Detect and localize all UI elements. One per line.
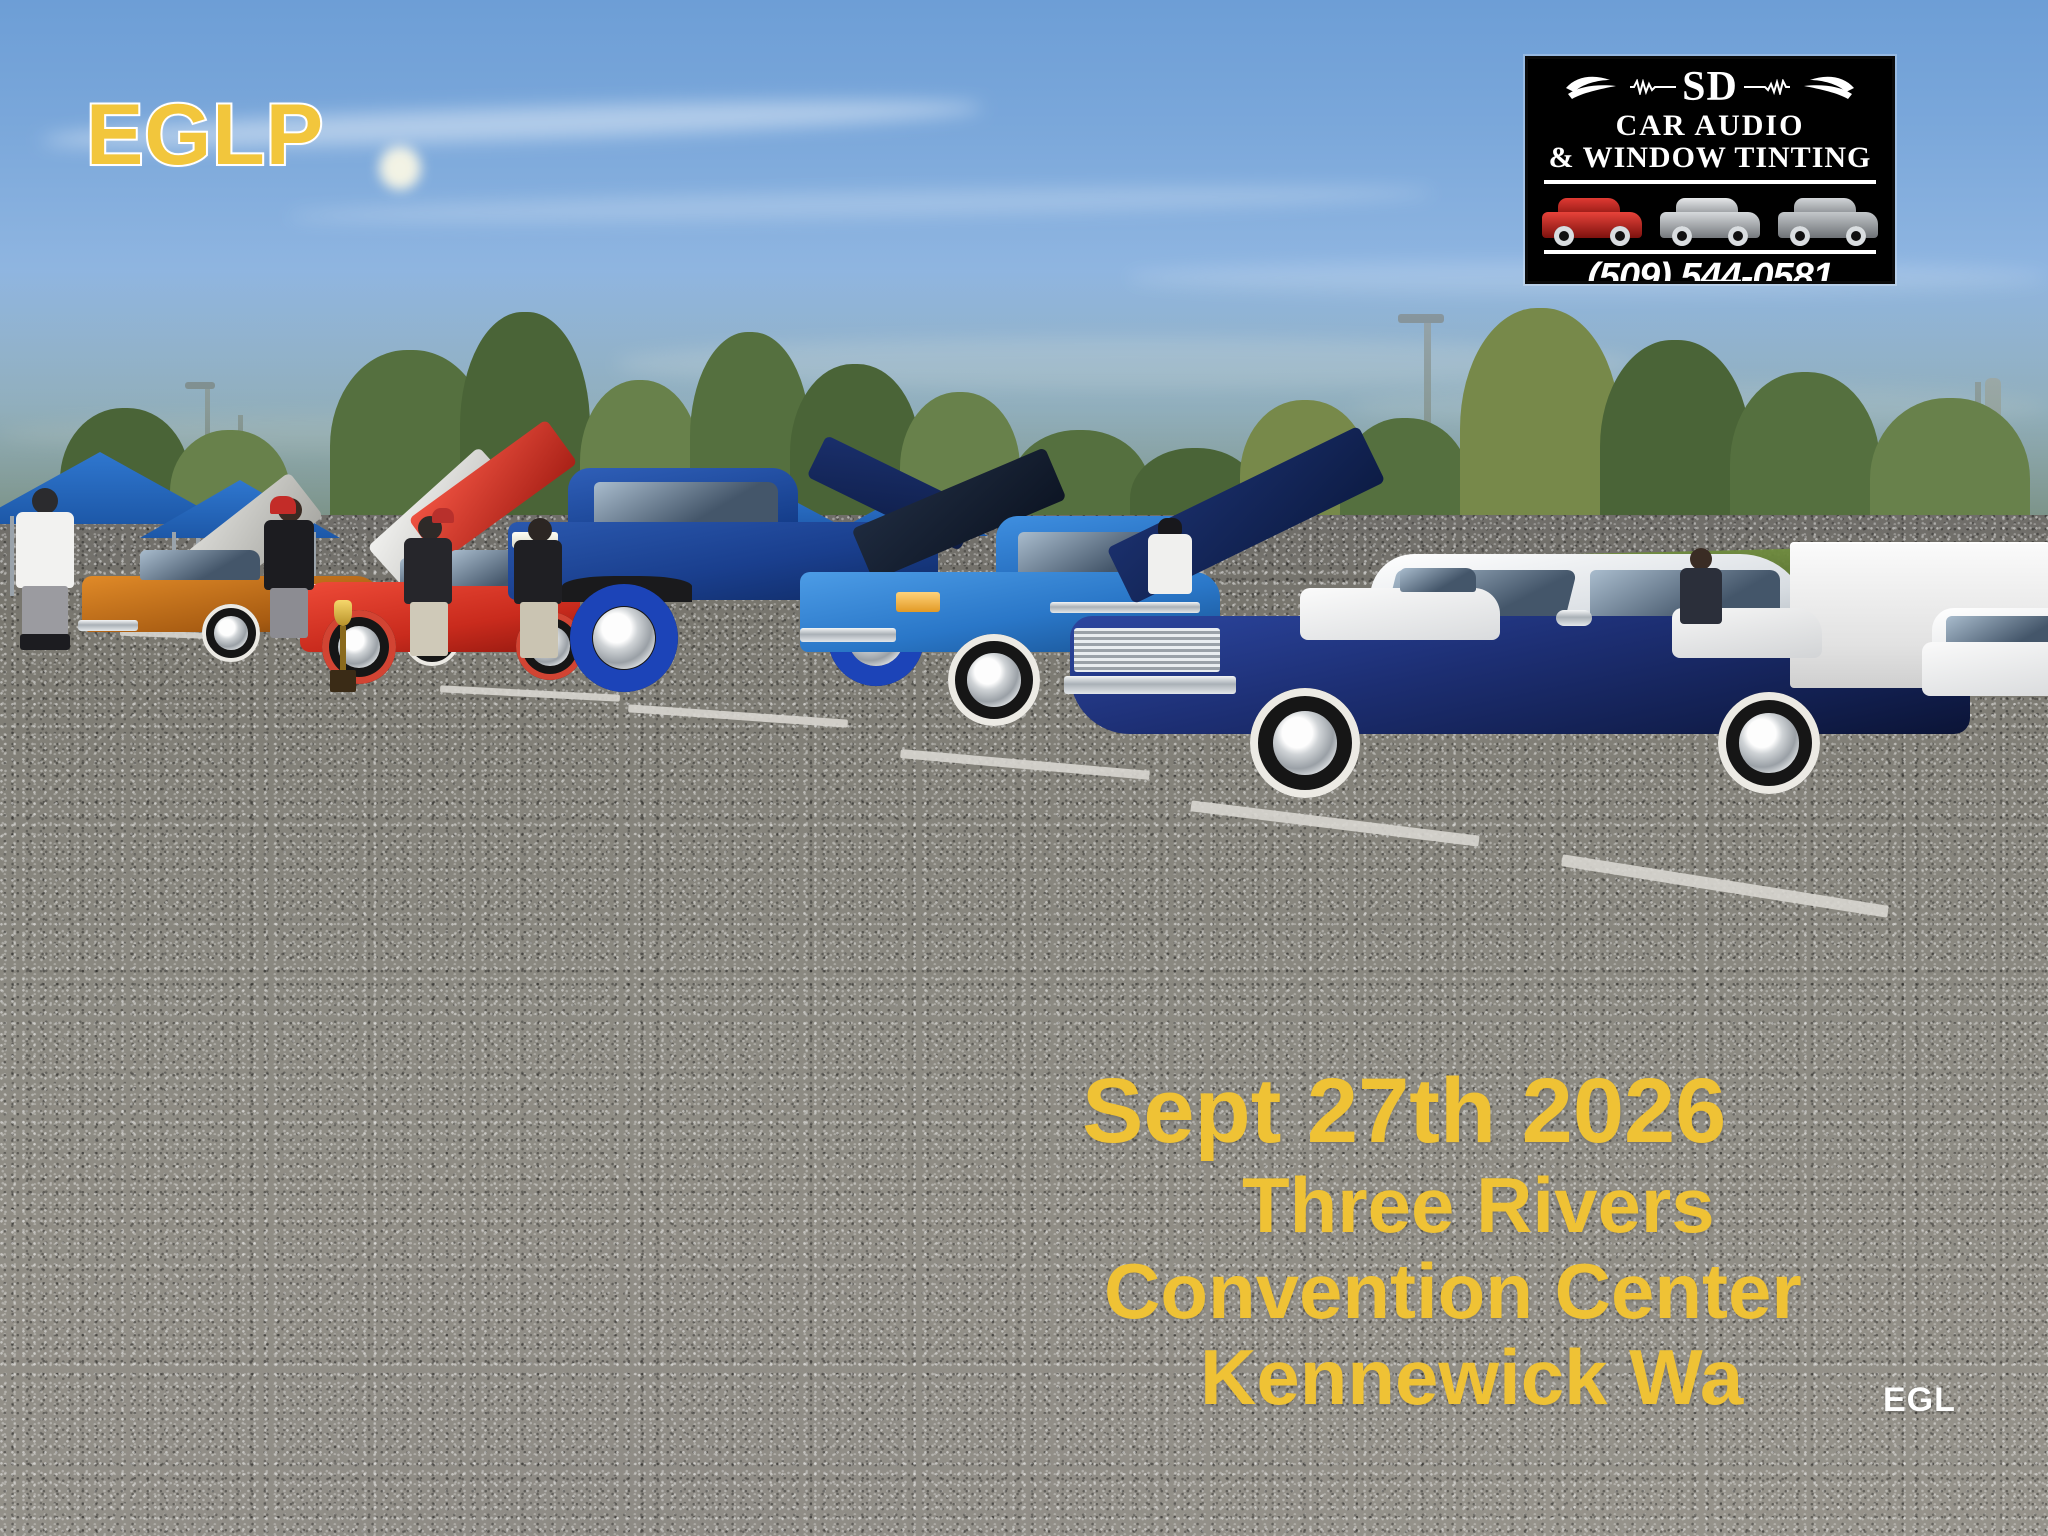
whitewall-tire [948,634,1040,726]
spectator [258,500,308,650]
cab-window [594,482,778,526]
eglp-brand-tag: EGLP [86,92,324,178]
egl-watermark: EGL [1883,1381,1956,1420]
wing-swoosh-left-icon [1564,72,1624,102]
whitewall-tire [1250,688,1360,798]
spectator [424,508,464,598]
event-flyer: EGLP SD CAR AUDIO & WINDOW TINTING [0,0,2048,1536]
logo-title-row: SD [1528,59,1892,115]
bumper [800,628,896,642]
torso [514,540,562,604]
cab-window [1400,568,1476,592]
sponsor-logo-sd-car-audio[interactable]: SD CAR AUDIO & WINDOW TINTING [1525,56,1895,284]
pickup-body [1300,588,1500,640]
logo-phone-number[interactable]: (509) 544-0581 [1528,258,1892,284]
wheel [570,584,678,692]
announce-line-convention-center: Convention Center [1104,1251,1802,1331]
logo-divider-bottom [1544,250,1876,254]
legs [520,602,558,658]
logo-red-suv-icon [1542,194,1642,246]
spectator [514,518,566,678]
head [1690,548,1712,570]
shoes [20,634,70,650]
legs [410,602,448,656]
spectator [1680,548,1724,658]
torso [1680,568,1722,624]
spectator [1148,518,1194,638]
head [32,488,58,514]
white-pickup [1300,566,1500,652]
grille [1074,628,1220,672]
logo-silver-coupe-icon [1660,194,1760,246]
logo-sd-text: SD [1682,66,1738,108]
legs [22,586,68,636]
waveform-icon [1744,79,1790,95]
torso [16,512,74,588]
head [528,518,552,542]
cap [270,496,296,514]
whitewall-tire [1718,692,1820,794]
announcement-right-block: Sept 27th 2026 Three Rivers Convention C… [1082,1064,1802,1424]
cap [432,508,454,523]
white-suv [1922,608,2048,704]
spectator [12,488,78,658]
torso [1148,534,1192,594]
cap [1158,518,1182,534]
logo-car-audio-text: CAR AUDIO [1528,111,1892,141]
whitewall-tire [202,604,260,662]
logo-silver-pickup-icon [1778,194,1878,246]
side-mirror [1556,610,1592,626]
announce-line-date: Sept 27th 2026 [1082,1064,1802,1159]
waveform-icon [1630,79,1676,95]
sun-glow [379,146,421,190]
logo-vehicle-row [1528,184,1892,246]
wing-swoosh-right-icon [1796,72,1856,102]
announce-line-kennewick-wa: Kennewick Wa [1200,1337,1802,1417]
front-bumper [1064,676,1236,694]
bumper [78,620,138,631]
suv-body [1922,642,2048,696]
logo-window-tinting-text: & WINDOW TINTING [1528,143,1892,173]
windshield [140,550,260,580]
headlight [896,592,940,612]
trophy [330,600,356,700]
announce-line-three-rivers: Three Rivers [1242,1165,1802,1245]
